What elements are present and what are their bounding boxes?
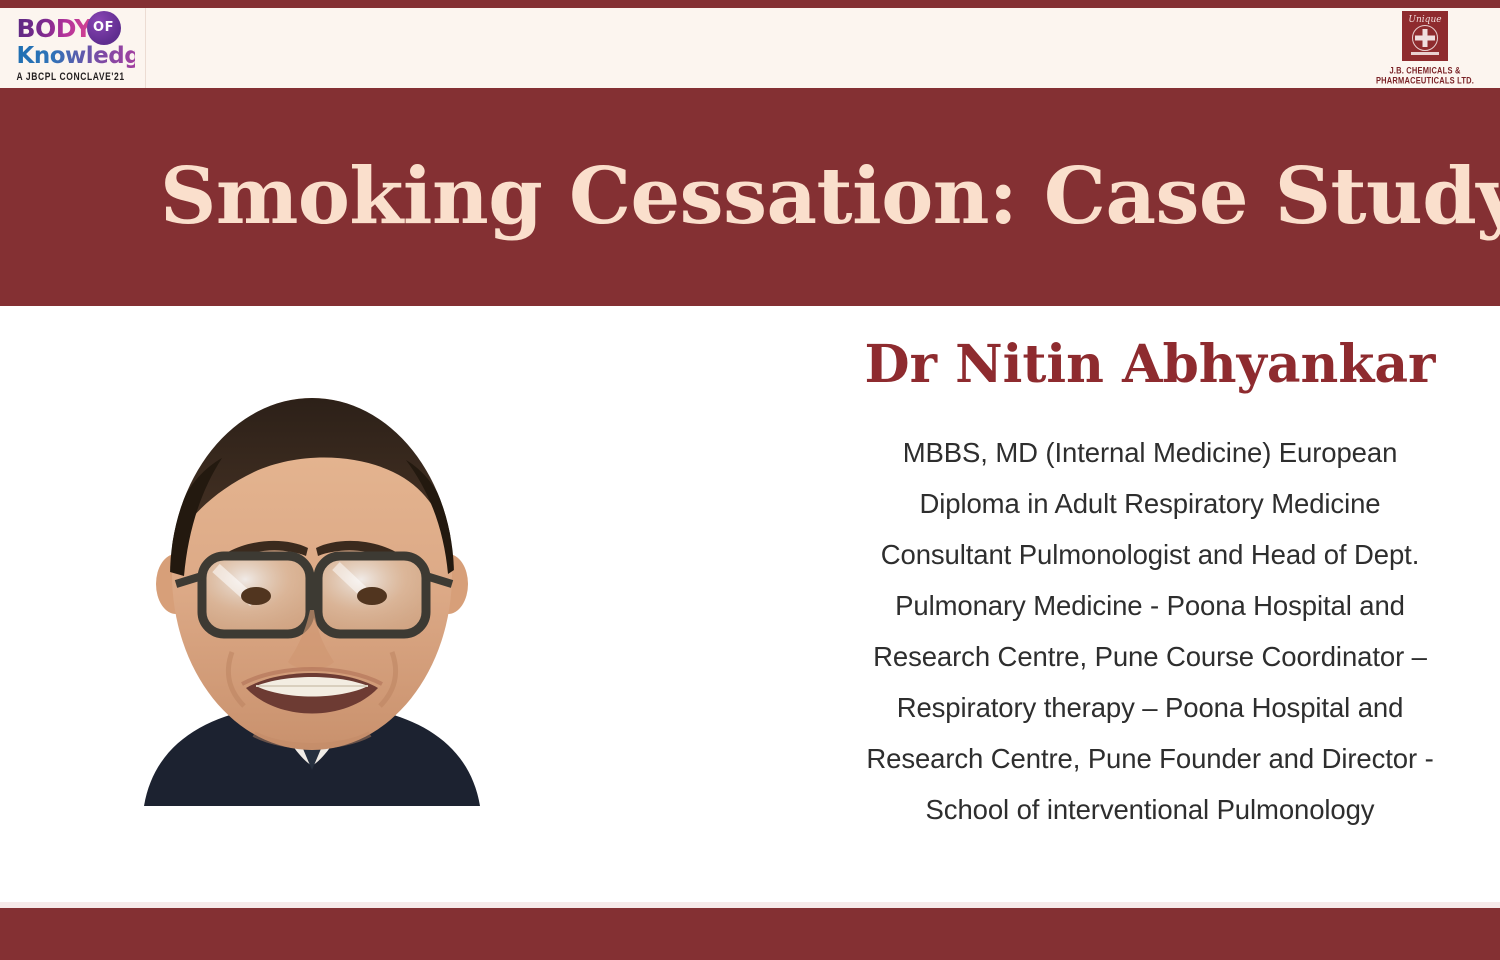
- jb-base-bar-icon: [1411, 52, 1439, 55]
- jb-cross-vertical-icon: [1423, 29, 1428, 47]
- header-right-logo-cell: Unique J.B. CHEMICALS & PHARMACEUTICALS …: [1350, 8, 1500, 88]
- title-banner: Smoking Cessation: Case Study: [0, 88, 1500, 306]
- page-title: Smoking Cessation: Case Study: [0, 158, 1500, 236]
- credential-line: Research Centre, Pune Founder and Direct…: [830, 733, 1470, 784]
- jb-unique-script: Unique: [1403, 15, 1447, 25]
- bok-word-body: BODY: [17, 14, 92, 43]
- credential-line: School of interventional Pulmonology: [830, 784, 1470, 835]
- speaker-photo: [104, 366, 519, 806]
- bottom-accent-bar: [0, 908, 1500, 960]
- header-left-logo-cell: BODY OF Knowledge A JBCPL CONCLAVE'21: [0, 8, 146, 88]
- jb-company-line-2: PHARMACEUTICALS LTD.: [1355, 75, 1495, 87]
- speaker-info-block: Dr Nitin Abhyankar MBBS, MD (Internal Me…: [830, 336, 1470, 835]
- bok-of-badge-icon: OF: [87, 11, 121, 45]
- speaker-portrait-illustration: [104, 366, 519, 806]
- logo-header-strip: BODY OF Knowledge A JBCPL CONCLAVE'21 Un…: [0, 8, 1500, 88]
- jb-chemicals-logo: Unique J.B. CHEMICALS & PHARMACEUTICALS …: [1355, 11, 1495, 85]
- credential-line: Respiratory therapy – Poona Hospital and: [830, 682, 1470, 733]
- bok-word-knowledge: Knowledge: [17, 44, 135, 68]
- credential-line: Pulmonary Medicine - Poona Hospital and: [830, 580, 1470, 631]
- jb-unique-emblem-icon: Unique: [1402, 11, 1448, 61]
- speaker-credentials: MBBS, MD (Internal Medicine) European Di…: [830, 427, 1470, 835]
- credential-line: MBBS, MD (Internal Medicine) European: [830, 427, 1470, 478]
- speaker-name: Dr Nitin Abhyankar: [830, 336, 1470, 393]
- credential-line: Research Centre, Pune Course Coordinator…: [830, 631, 1470, 682]
- credential-line: Diploma in Adult Respiratory Medicine: [830, 478, 1470, 529]
- credential-line: Consultant Pulmonologist and Head of Dep…: [830, 529, 1470, 580]
- bok-tagline: A JBCPL CONCLAVE'21: [17, 70, 135, 83]
- bok-word-of: OF: [93, 15, 114, 41]
- top-accent-rule: [0, 0, 1500, 8]
- bok-logo-row-one: BODY OF: [17, 16, 135, 42]
- body-of-knowledge-logo: BODY OF Knowledge A JBCPL CONCLAVE'21: [11, 15, 135, 81]
- content-area: Dr Nitin Abhyankar MBBS, MD (Internal Me…: [0, 306, 1500, 908]
